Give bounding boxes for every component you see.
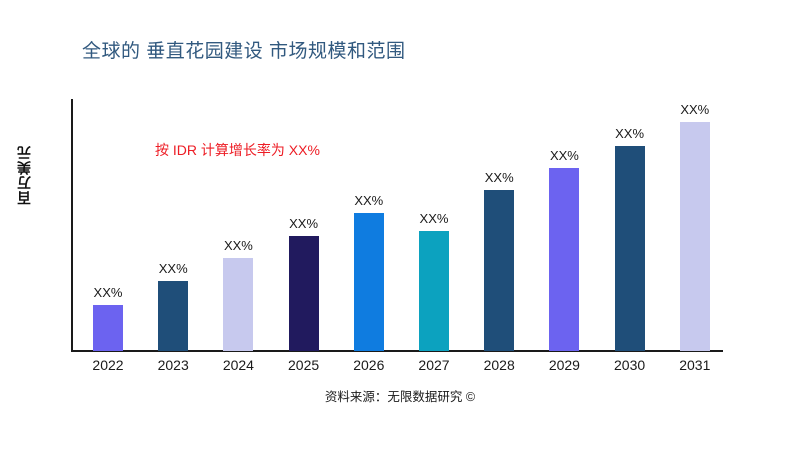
bar[interactable] bbox=[354, 213, 384, 351]
bar-value-label: XX% bbox=[680, 102, 709, 117]
bar-group: XX%2025 bbox=[271, 99, 336, 351]
bar-group: XX%2024 bbox=[206, 99, 271, 351]
source-note: 资料来源：无限数据研究 © bbox=[0, 386, 800, 405]
bar-value-label: XX% bbox=[354, 193, 383, 208]
chart-figure: 全球的 垂直花园建设 市场规模和范围 百万美元 按 IDR 计算增长率为 XX%… bbox=[0, 0, 800, 450]
x-axis-tick-label: 2023 bbox=[158, 357, 189, 373]
bar-group: XX%2027 bbox=[402, 99, 467, 351]
bar[interactable] bbox=[680, 122, 710, 351]
bar[interactable] bbox=[289, 236, 319, 351]
x-axis-tick-label: 2031 bbox=[679, 357, 710, 373]
bar-value-label: XX% bbox=[550, 148, 579, 163]
x-axis-tick-label: 2030 bbox=[614, 357, 645, 373]
bar-group: XX%2030 bbox=[597, 99, 662, 351]
bar-group: XX%2028 bbox=[467, 99, 532, 351]
bar[interactable] bbox=[484, 190, 514, 351]
bar-group: XX%2031 bbox=[662, 99, 727, 351]
x-axis-tick-label: 2027 bbox=[418, 357, 449, 373]
y-axis-label: 百万美元 bbox=[14, 145, 36, 205]
plot-area: XX%2022XX%2023XX%2024XX%2025XX%2026XX%20… bbox=[71, 99, 785, 351]
bar-value-label: XX% bbox=[224, 238, 253, 253]
x-axis-tick-label: 2024 bbox=[223, 357, 254, 373]
bar[interactable] bbox=[549, 168, 579, 351]
bar-value-label: XX% bbox=[289, 216, 318, 231]
bar-value-label: XX% bbox=[485, 170, 514, 185]
bar[interactable] bbox=[419, 231, 449, 351]
x-axis-tick-label: 2026 bbox=[353, 357, 384, 373]
bar-value-label: XX% bbox=[94, 285, 123, 300]
bar-value-label: XX% bbox=[159, 261, 188, 276]
page-title: 全球的 垂直花园建设 市场规模和范围 bbox=[82, 36, 406, 63]
x-axis-tick-label: 2022 bbox=[92, 357, 123, 373]
bar-group: XX%2026 bbox=[336, 99, 401, 351]
y-axis-line bbox=[71, 99, 73, 351]
bar-value-label: XX% bbox=[615, 126, 644, 141]
bar-group: XX%2023 bbox=[141, 99, 206, 351]
bar[interactable] bbox=[615, 146, 645, 351]
x-axis-tick-label: 2025 bbox=[288, 357, 319, 373]
x-axis-tick-label: 2029 bbox=[549, 357, 580, 373]
bar-group: XX%2029 bbox=[532, 99, 597, 351]
bar[interactable] bbox=[223, 258, 253, 351]
bar-group: XX%2022 bbox=[76, 99, 141, 351]
bar[interactable] bbox=[158, 281, 188, 351]
x-axis-tick-label: 2028 bbox=[484, 357, 515, 373]
bar-value-label: XX% bbox=[420, 211, 449, 226]
bar[interactable] bbox=[93, 305, 123, 351]
